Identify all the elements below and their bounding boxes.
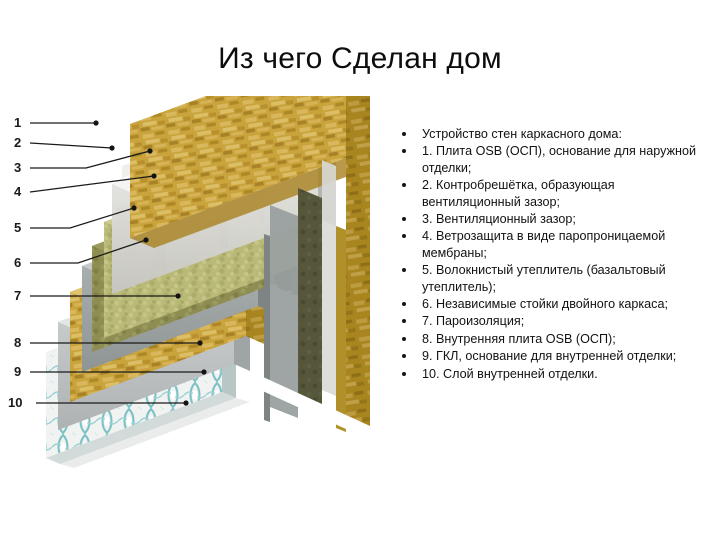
list-item: 8. Внутренняя плита OSB (ОСП); xyxy=(396,331,712,347)
list-item: Устройство стен каркасного дома: xyxy=(396,126,712,142)
callout-number-1: 1 xyxy=(14,116,21,129)
list-item: 9. ГКЛ, основание для внутренней отделки… xyxy=(396,348,712,364)
callout-number-9: 9 xyxy=(14,365,21,378)
callout-number-6: 6 xyxy=(14,256,21,269)
callout-number-8: 8 xyxy=(14,336,21,349)
leader-lines xyxy=(30,123,204,403)
callout-number-4: 4 xyxy=(14,185,21,198)
callout-number-10: 10 xyxy=(8,396,22,409)
list-item: 3. Вентиляционный зазор; xyxy=(396,211,712,227)
callout-number-5: 5 xyxy=(14,221,21,234)
list-item: 7. Пароизоляция; xyxy=(396,313,712,329)
page-title: Из чего Сделан дом xyxy=(0,44,720,74)
callout-number-3: 3 xyxy=(14,161,21,174)
callout-number-7: 7 xyxy=(14,289,21,302)
callout-number-2: 2 xyxy=(14,136,21,149)
list-item: 6. Независимые стойки двойного каркаса; xyxy=(396,296,712,312)
list-item: 2. Контробрешётка, образующая вентиляцио… xyxy=(396,177,712,210)
slide-root: Из чего Сделан дом xyxy=(0,0,720,540)
wall-layers-bullet-list: Устройство стен каркасного дома: 1. Плит… xyxy=(396,126,712,383)
list-item: 1. Плита OSB (ОСП), основание для наружн… xyxy=(396,143,712,176)
list-item: 4. Ветрозащита в виде паропроницаемой ме… xyxy=(396,228,712,261)
callout-label-group: 1 2 3 4 5 6 7 8 9 10 xyxy=(0,96,400,426)
leader-endpoints xyxy=(93,120,206,405)
list-item: 10. Слой внутренней отделки. xyxy=(396,366,712,382)
list-item: 5. Волокнистый утеплитель (базальтовый у… xyxy=(396,262,712,295)
